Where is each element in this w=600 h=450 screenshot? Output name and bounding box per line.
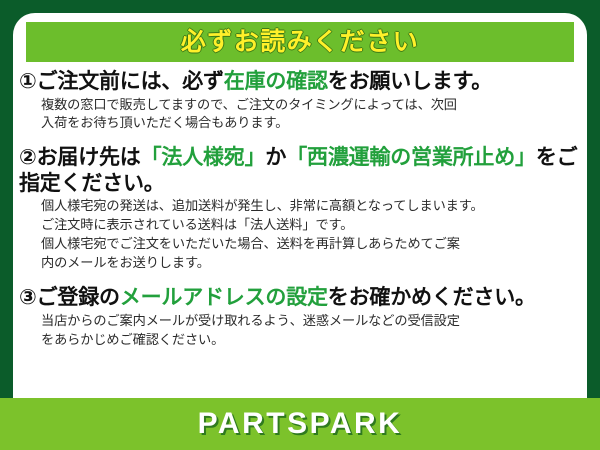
footer-bar: PARTSPARK [0,398,600,450]
white-panel: 必ずお読みください ①ご注文前には、必ず在庫の確認をお願いします。 複数の窓口で… [13,13,587,403]
banner-title: 必ずお読みください [181,30,420,55]
notice-item-2-subtext: 個人様宅宛の発送は、追加送料が発生し、非常に高額となってしまいます。ご注文時に表… [17,197,579,272]
notice-items-list: ①ご注文前には、必ず在庫の確認をお願いします。 複数の窓口で販売してますので、ご… [13,69,587,353]
plain-phrase: ご注文前には、必ず [37,70,224,93]
notice-item-2-heading: ②お届け先は「法人様宛」か「西濃運輸の営業所止め」をご指定ください。 [17,145,579,196]
subtext-line: 内のメールをお送りします。 [41,254,579,273]
highlighted-phrase: メールアドレスの設定 [120,286,328,309]
subtext-line: 個人様宅宛の発送は、追加送料が発生し、非常に高額となってしまいます。 [41,197,579,216]
notice-item-3-heading: ③ご登録のメールアドレスの設定をお確かめください。 [17,285,579,311]
notice-item-2: ②お届け先は「法人様宛」か「西濃運輸の営業所止め」をご指定ください。 個人様宅宛… [17,145,579,272]
subtext-line: 複数の窓口で販売してますので、ご注文のタイミングによっては、次回 [41,96,579,115]
notice-item-3-heading-text: ご登録のメールアドレスの設定をお確かめください。 [37,286,536,309]
highlighted-phrase: 「法人様宛」 [141,146,266,169]
highlighted-phrase: 在庫の確認 [224,70,328,93]
notice-item-1-heading: ①ご注文前には、必ず在庫の確認をお願いします。 [17,69,579,95]
notice-item-1-subtext: 複数の窓口で販売してますので、ご注文のタイミングによっては、次回入荷をお待ち頂い… [17,96,579,133]
notice-item-3: ③ご登録のメールアドレスの設定をお確かめください。 当店からのご案内メールが受け… [17,285,579,349]
notice-item-1-number: ① [19,70,37,93]
partspark-logo: PARTSPARK [198,409,403,439]
notice-item-3-number: ③ [19,286,37,309]
notice-item-2-number: ② [19,146,37,169]
notice-item-1: ①ご注文前には、必ず在庫の確認をお願いします。 複数の窓口で販売してますので、ご… [17,69,579,133]
plain-phrase: お届け先は [37,146,141,169]
subtext-line: をあらかじめご確認ください。 [41,331,579,350]
subtext-line: 個人様宅宛でご注文をいただいた場合、送料を再計算しあらためてご案 [41,235,579,254]
title-banner: 必ずお読みください [26,22,574,62]
notice-item-1-heading-text: ご注文前には、必ず在庫の確認をお願いします。 [37,70,493,93]
notice-banner: 必ずお読みください ①ご注文前には、必ず在庫の確認をお願いします。 複数の窓口で… [0,0,600,450]
plain-phrase: をお確かめください。 [328,286,536,309]
plain-phrase: か [265,146,286,169]
highlighted-phrase: 「西濃運輸の営業所止め」 [286,146,536,169]
plain-phrase: をお願いします。 [328,70,492,93]
subtext-line: ご注文時に表示されている送料は「法人送料」です。 [41,216,579,235]
plain-phrase: ご登録の [37,286,120,309]
notice-item-3-subtext: 当店からのご案内メールが受け取れるよう、迷惑メールなどの受信設定をあらかじめご確… [17,312,579,349]
notice-item-2-heading-text: お届け先は「法人様宛」か「西濃運輸の営業所止め」をご指定ください。 [19,146,577,195]
subtext-line: 当店からのご案内メールが受け取れるよう、迷惑メールなどの受信設定 [41,312,579,331]
subtext-line: 入荷をお待ち頂いただく場合もあります。 [41,114,579,133]
